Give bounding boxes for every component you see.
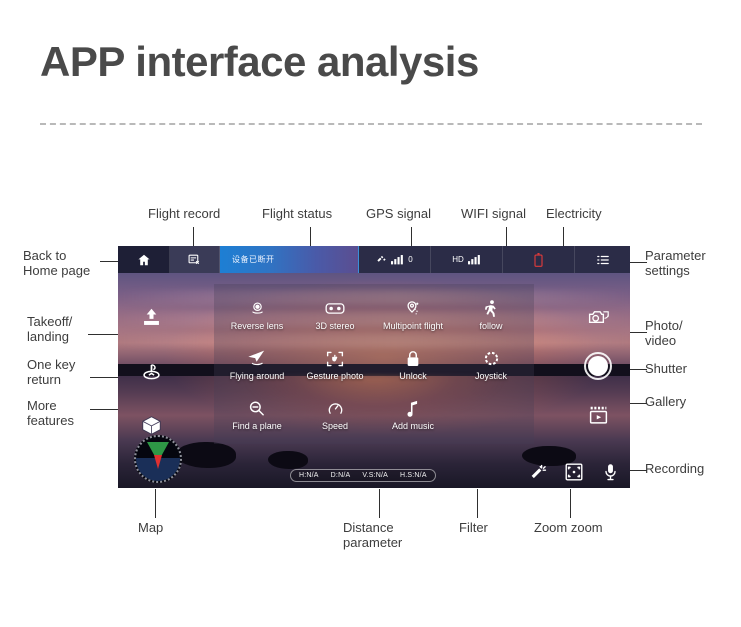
menu-label: Multipoint flight bbox=[383, 321, 443, 331]
annotation-distance-parameter: Distance parameter bbox=[343, 521, 402, 551]
wifi-quality-label: HD bbox=[452, 255, 464, 264]
menu-item-unlock[interactable]: Unlock bbox=[374, 340, 452, 390]
gallery-button[interactable] bbox=[585, 402, 611, 428]
flight-status-text: 设备已断开 bbox=[220, 246, 359, 273]
gallery-film-icon bbox=[588, 405, 609, 425]
annotation-photo-video: Photo/ video bbox=[645, 319, 683, 349]
battery-indicator bbox=[503, 246, 575, 273]
parameter-settings-button[interactable] bbox=[575, 246, 630, 273]
menu-item-add-music[interactable]: Add music bbox=[374, 390, 452, 440]
menu-item-speed[interactable]: Speed bbox=[296, 390, 374, 440]
menu-item-reverse-lens[interactable]: Reverse lens bbox=[218, 290, 296, 340]
annotation-filter: Filter bbox=[459, 521, 488, 536]
leader-distance bbox=[379, 489, 380, 518]
menu-item-joystick[interactable]: Joystick bbox=[452, 340, 530, 390]
one-key-return-button[interactable] bbox=[138, 358, 164, 384]
zoom-button[interactable] bbox=[564, 462, 584, 482]
zoom-frame-icon bbox=[565, 463, 583, 481]
reverse-lens-icon bbox=[249, 300, 266, 318]
leader-filter bbox=[477, 489, 478, 518]
annotation-more-features: More features bbox=[27, 399, 74, 429]
radar-needle bbox=[154, 455, 162, 469]
wifi-signal-indicator: HD bbox=[431, 246, 503, 273]
takeoff-landing-button[interactable] bbox=[138, 304, 164, 330]
annotation-shutter: Shutter bbox=[645, 362, 687, 377]
annotation-gps-signal: GPS signal bbox=[366, 207, 431, 222]
app-topbar: 设备已断开 0 HD bbox=[118, 246, 630, 273]
gps-value: 0 bbox=[408, 255, 412, 264]
camera-switch-icon bbox=[588, 308, 609, 327]
flight-record-button[interactable] bbox=[170, 246, 220, 273]
paper-plane-icon bbox=[248, 350, 267, 368]
menu-label: Speed bbox=[322, 421, 348, 431]
upload-arrow-icon bbox=[141, 307, 162, 328]
telemetry-vertical-speed: V.S:N/A bbox=[362, 472, 388, 479]
menu-label: Add music bbox=[392, 421, 434, 431]
menu-label: 3D stereo bbox=[315, 321, 354, 331]
signal-bars-icon bbox=[391, 254, 404, 265]
waypoint-pin-icon bbox=[404, 300, 423, 318]
home-button[interactable] bbox=[118, 246, 170, 273]
music-note-icon bbox=[406, 400, 420, 418]
annotation-takeoff-landing: Takeoff/ landing bbox=[27, 315, 72, 345]
menu-item-gesture-photo[interactable]: Gesture photo bbox=[296, 340, 374, 390]
app-screen: 设备已断开 0 HD bbox=[118, 246, 630, 488]
shutter-circle-icon bbox=[588, 356, 608, 376]
magnifier-icon bbox=[248, 400, 266, 418]
menu-label: Reverse lens bbox=[231, 321, 284, 331]
title-divider bbox=[40, 123, 702, 125]
telemetry-distance: D:N/A bbox=[331, 472, 351, 479]
flight-record-icon bbox=[188, 253, 201, 266]
annotation-back-home: Back to Home page bbox=[23, 249, 90, 279]
menu-item-flying-around[interactable]: Flying around bbox=[218, 340, 296, 390]
menu-label: Unlock bbox=[399, 371, 427, 381]
telemetry-height: H:N/A bbox=[299, 472, 319, 479]
menu-label: follow bbox=[479, 321, 502, 331]
right-control-rail bbox=[584, 304, 612, 428]
bottom-tool-bar bbox=[528, 462, 620, 482]
leader-map bbox=[155, 489, 156, 518]
annotation-zoom-zoom: Zoom zoom bbox=[534, 521, 603, 536]
photo-video-toggle-button[interactable] bbox=[585, 304, 611, 330]
annotation-electricity: Electricity bbox=[546, 207, 602, 222]
menu-label: Gesture photo bbox=[306, 371, 363, 381]
menu-item-3d-stereo[interactable]: 3D stereo bbox=[296, 290, 374, 340]
gps-signal-indicator: 0 bbox=[359, 246, 431, 273]
menu-item-find-a-plane[interactable]: Find a plane bbox=[218, 390, 296, 440]
telemetry-horizontal-speed: H.S:N/A bbox=[400, 472, 427, 479]
menu-label: Flying around bbox=[230, 371, 285, 381]
left-control-rail bbox=[138, 304, 164, 438]
annotation-one-key-return: One key return bbox=[27, 358, 75, 388]
home-icon bbox=[137, 253, 151, 267]
microphone-icon bbox=[603, 463, 618, 481]
annotation-map: Map bbox=[138, 521, 163, 536]
speedometer-icon bbox=[327, 400, 344, 418]
walking-person-icon bbox=[484, 300, 499, 318]
rock bbox=[176, 442, 236, 468]
annotation-wifi-signal: WIFI signal bbox=[461, 207, 526, 222]
leader-zoom bbox=[570, 489, 571, 518]
joystick-ring-icon bbox=[483, 350, 500, 368]
annotation-parameter-settings: Parameter settings bbox=[645, 249, 706, 279]
recording-button[interactable] bbox=[600, 462, 620, 482]
menu-item-follow[interactable]: follow bbox=[452, 290, 530, 340]
lock-icon bbox=[405, 350, 421, 368]
cube-icon bbox=[141, 415, 162, 436]
vr-goggles-icon bbox=[325, 300, 345, 318]
annotation-gallery: Gallery bbox=[645, 395, 686, 410]
distance-parameter-bar: H:N/A D:N/A V.S:N/A H.S:N/A bbox=[290, 469, 436, 482]
return-home-icon bbox=[141, 361, 162, 382]
map-compass[interactable] bbox=[134, 435, 182, 483]
page-title: APP interface analysis bbox=[40, 38, 479, 86]
menu-label: Joystick bbox=[475, 371, 507, 381]
menu-slot-empty bbox=[452, 390, 530, 440]
feature-menu-panel: Reverse lens 3D stereo bbox=[214, 284, 534, 444]
menu-item-multipoint-flight[interactable]: Multipoint flight bbox=[374, 290, 452, 340]
rock bbox=[268, 451, 308, 469]
wifi-signal-bars-icon bbox=[468, 254, 481, 265]
annotation-flight-status: Flight status bbox=[262, 207, 332, 222]
filter-button[interactable] bbox=[528, 462, 548, 482]
gps-satellite-icon bbox=[376, 254, 387, 265]
list-settings-icon bbox=[596, 253, 610, 267]
annotation-recording: Recording bbox=[645, 462, 704, 477]
gesture-frame-icon bbox=[326, 350, 344, 368]
annotation-flight-record: Flight record bbox=[148, 207, 220, 222]
battery-icon bbox=[534, 253, 543, 267]
shutter-button[interactable] bbox=[584, 352, 612, 380]
magic-wand-icon bbox=[530, 464, 547, 481]
menu-label: Find a plane bbox=[232, 421, 282, 431]
